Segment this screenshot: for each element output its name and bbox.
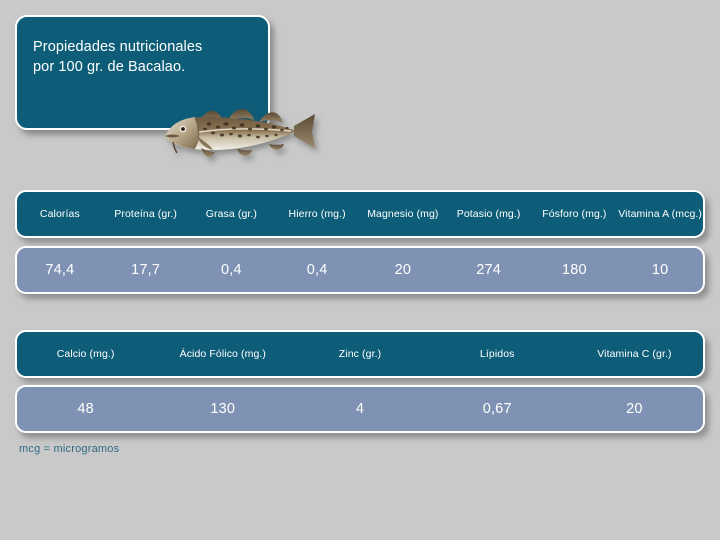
table2-value-cell: 4 xyxy=(291,401,428,417)
table1-header-cell: Proteína (gr.) xyxy=(103,208,189,220)
footnote-legend: mcg = microgramos xyxy=(19,443,119,455)
table2-value-cell: 20 xyxy=(566,401,703,417)
table1-header-row: Calorías Proteína (gr.) Grasa (gr.) Hier… xyxy=(15,190,705,238)
table1-header-cell: Grasa (gr.) xyxy=(189,208,275,220)
table2-header-row: Calcio (mg.) Ácido Fólico (mg.) Zinc (gr… xyxy=(15,330,705,378)
table2-header-cell: Calcio (mg.) xyxy=(17,348,154,360)
table1-value-cell: 0,4 xyxy=(274,262,360,278)
table1-header-cell: Fósforo (mg.) xyxy=(532,208,618,220)
table1-header-cell: Potasio (mg.) xyxy=(446,208,532,220)
table1-value-cell: 274 xyxy=(446,262,532,278)
table2-header-cell: Vitamina C (gr.) xyxy=(566,348,703,360)
table1-header-cell: Calorías xyxy=(17,208,103,220)
table1-value-cell: 180 xyxy=(532,262,618,278)
table1-header-cell: Vitamina A (mcg.) xyxy=(617,208,703,220)
table2-header-cell: Zinc (gr.) xyxy=(291,348,428,360)
table2-value-cell: 48 xyxy=(17,401,154,417)
table1-value-cell: 74,4 xyxy=(17,262,103,278)
table1-value-row: 74,4 17,7 0,4 0,4 20 274 180 10 xyxy=(15,246,705,294)
table2-header-cell: Ácido Fólico (mg.) xyxy=(154,348,291,360)
table2-value-cell: 130 xyxy=(154,401,291,417)
table1-header-cell: Magnesio (mg) xyxy=(360,208,446,220)
table1-value-cell: 17,7 xyxy=(103,262,189,278)
table1-value-cell: 10 xyxy=(617,262,703,278)
table2-value-row: 48 130 4 0,67 20 xyxy=(15,385,705,433)
table1-header-cell: Hierro (mg.) xyxy=(274,208,360,220)
table1-value-cell: 0,4 xyxy=(189,262,275,278)
cod-fish-image xyxy=(155,96,317,168)
table2-value-cell: 0,67 xyxy=(429,401,566,417)
table2-header-cell: Lípidos xyxy=(429,348,566,360)
page-title: Propiedades nutricionales por 100 gr. de… xyxy=(33,37,258,77)
slide-canvas: Propiedades nutricionales por 100 gr. de… xyxy=(0,0,720,540)
table1-value-cell: 20 xyxy=(360,262,446,278)
